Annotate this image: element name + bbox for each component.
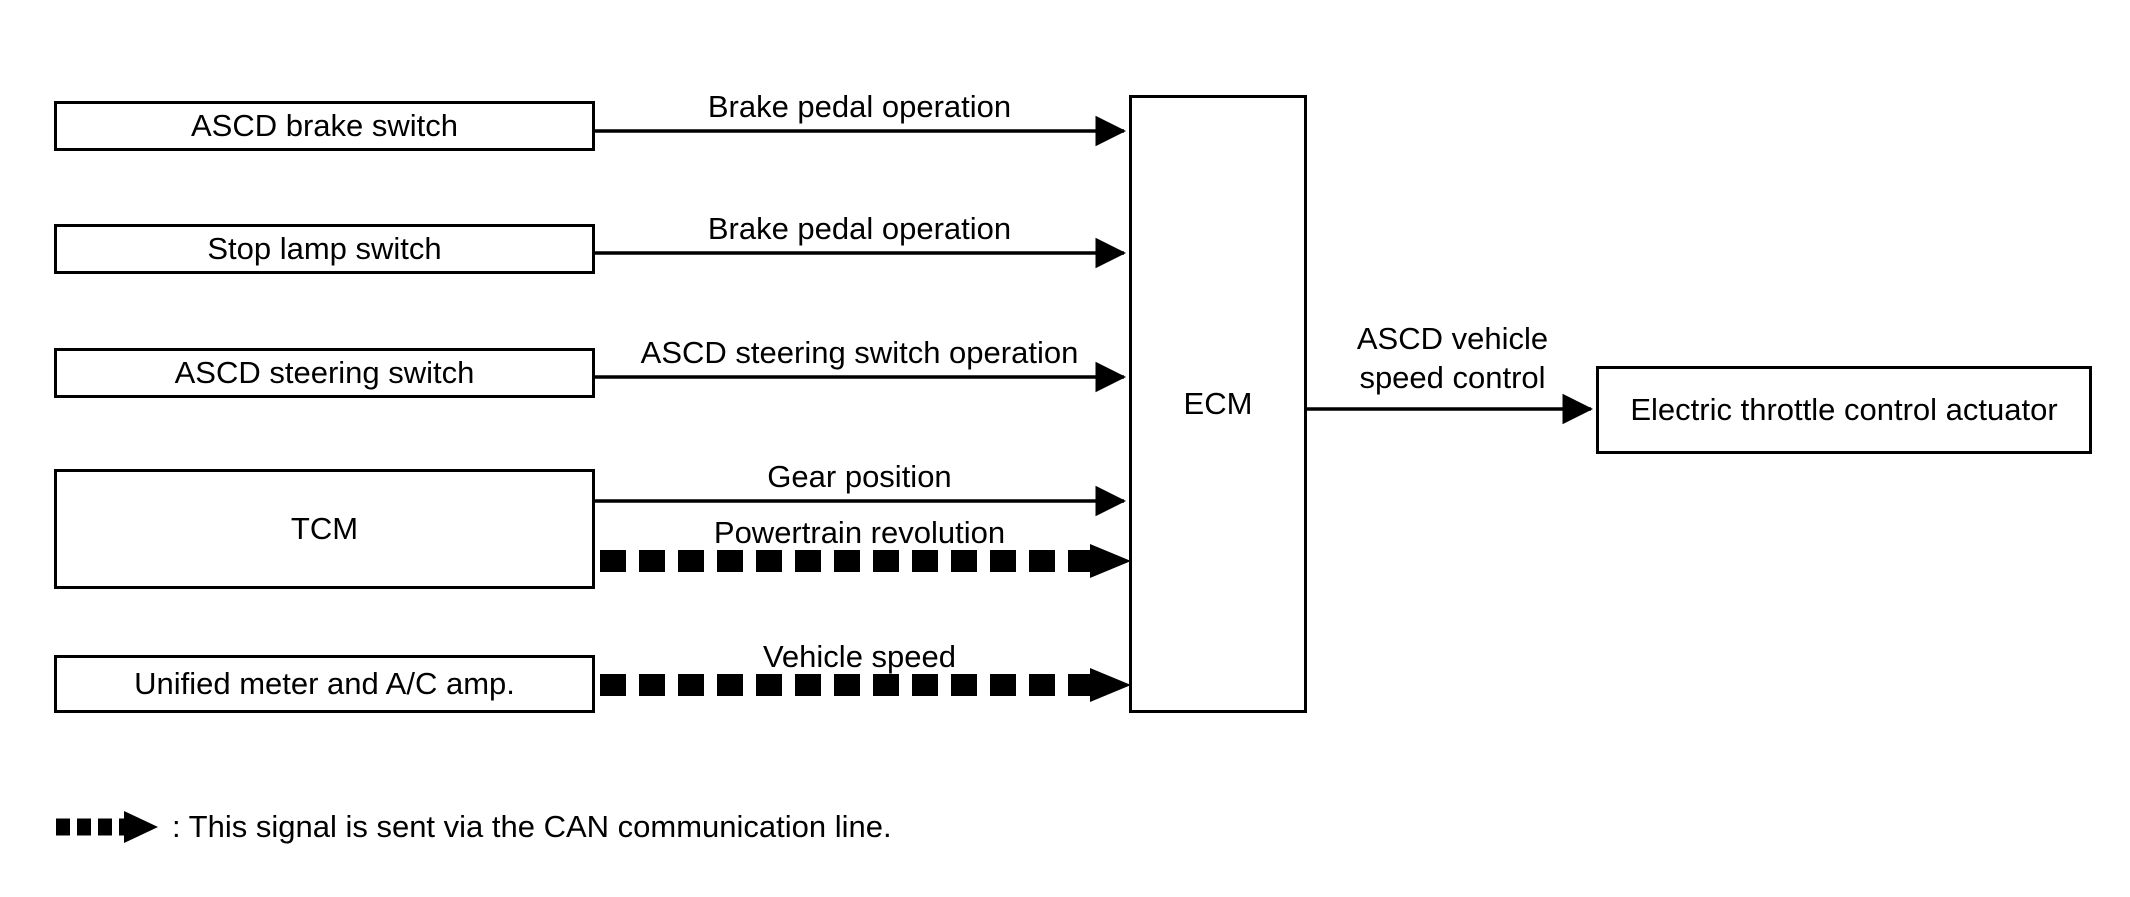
node-electric-throttle-actuator[interactable]: Electric throttle control actuator: [1596, 366, 2092, 454]
node-stop-lamp-switch[interactable]: Stop lamp switch: [54, 224, 595, 274]
node-label-unified-meter: Unified meter and A/C amp.: [134, 666, 515, 702]
edge-label-ascd-vehicle-speed-control-line1: ASCD vehicle: [1330, 320, 1575, 359]
legend: : This signal is sent via the CAN commun…: [54, 805, 892, 849]
node-label-stop-lamp-switch: Stop lamp switch: [207, 231, 441, 267]
block-diagram: ASCD brake switch Stop lamp switch ASCD …: [0, 0, 2130, 897]
node-label-ecm: ECM: [1184, 386, 1253, 422]
node-label-ascd-brake-switch: ASCD brake switch: [191, 108, 458, 144]
node-label-tcm: TCM: [291, 511, 358, 547]
node-ecm[interactable]: ECM: [1129, 95, 1307, 713]
edge-label-vehicle-speed: Vehicle speed: [595, 640, 1124, 675]
edge-label-brake-pedal-operation-1: Brake pedal operation: [595, 90, 1124, 125]
edge-label-ascd-vehicle-speed-control-line2: speed control: [1330, 359, 1575, 398]
node-label-electric-throttle-actuator: Electric throttle control actuator: [1630, 392, 2057, 428]
edge-label-ascd-steering-switch-operation: ASCD steering switch operation: [595, 336, 1124, 371]
node-unified-meter[interactable]: Unified meter and A/C amp.: [54, 655, 595, 713]
edge-label-brake-pedal-operation-2: Brake pedal operation: [595, 212, 1124, 247]
edge-label-powertrain-revolution: Powertrain revolution: [595, 516, 1124, 551]
edge-label-gear-position: Gear position: [595, 460, 1124, 495]
node-ascd-steering-switch[interactable]: ASCD steering switch: [54, 348, 595, 398]
legend-text: : This signal is sent via the CAN commun…: [172, 809, 892, 845]
can-dashed-arrow-icon: [54, 805, 162, 849]
node-label-ascd-steering-switch: ASCD steering switch: [175, 355, 475, 391]
edge-label-ascd-vehicle-speed-control: ASCD vehicle speed control: [1330, 320, 1575, 398]
node-ascd-brake-switch[interactable]: ASCD brake switch: [54, 101, 595, 151]
node-tcm[interactable]: TCM: [54, 469, 595, 589]
